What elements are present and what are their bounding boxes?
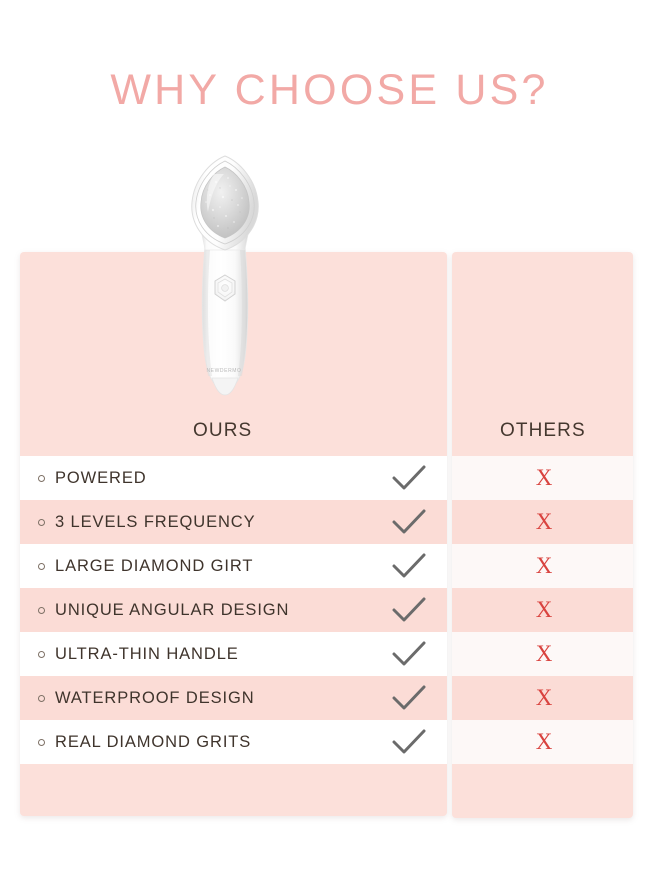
cross-icon: X (452, 500, 633, 544)
check-icon (392, 641, 426, 667)
table-row: UNIQUE ANGULAR DESIGN (20, 588, 447, 632)
table-row: X (452, 632, 633, 676)
cross-icon: X (452, 720, 633, 764)
others-feature-table: X X X X X X X (452, 456, 633, 764)
bullet-icon (38, 475, 45, 482)
cross-icon: X (452, 676, 633, 720)
feature-label: LARGE DIAMOND GIRT (55, 544, 253, 588)
cross-icon: X (452, 456, 633, 500)
table-row: X (452, 588, 633, 632)
check-icon (392, 553, 426, 579)
table-row: WATERPROOF DESIGN (20, 676, 447, 720)
table-row: ULTRA-THIN HANDLE (20, 632, 447, 676)
feature-label: WATERPROOF DESIGN (55, 676, 255, 720)
table-row: X (452, 456, 633, 500)
cross-icon: X (452, 588, 633, 632)
check-icon (392, 465, 426, 491)
table-row: LARGE DIAMOND GIRT (20, 544, 447, 588)
check-icon (392, 729, 426, 755)
column-header-others: OTHERS (500, 420, 586, 442)
feature-label: 3 LEVELS FREQUENCY (55, 500, 256, 544)
table-row: 3 LEVELS FREQUENCY (20, 500, 447, 544)
table-row: X (452, 500, 633, 544)
cross-icon: X (452, 632, 633, 676)
column-header-ours: OURS (193, 420, 252, 442)
table-row: POWERED (20, 456, 447, 500)
table-row: X (452, 676, 633, 720)
feature-label: ULTRA-THIN HANDLE (55, 632, 239, 676)
table-row: X (452, 544, 633, 588)
check-icon (392, 685, 426, 711)
table-row: REAL DIAMOND GRITS (20, 720, 447, 764)
feature-label: POWERED (55, 456, 147, 500)
ours-feature-table: POWERED 3 LEVELS FREQUENCY LARGE DIAMOND… (20, 456, 447, 764)
bullet-icon (38, 563, 45, 570)
product-brand-mark: NEWDERMO (196, 367, 252, 375)
bullet-icon (38, 739, 45, 746)
bullet-icon (38, 651, 45, 658)
table-row: X (452, 720, 633, 764)
product-image-callus-remover (168, 150, 282, 398)
bullet-icon (38, 519, 45, 526)
page-title: WHY CHOOSE US? (0, 66, 659, 115)
check-icon (392, 509, 426, 535)
feature-label: REAL DIAMOND GRITS (55, 720, 251, 764)
bullet-icon (38, 607, 45, 614)
check-icon (392, 597, 426, 623)
feature-label: UNIQUE ANGULAR DESIGN (55, 588, 289, 632)
cross-icon: X (452, 544, 633, 588)
bullet-icon (38, 695, 45, 702)
